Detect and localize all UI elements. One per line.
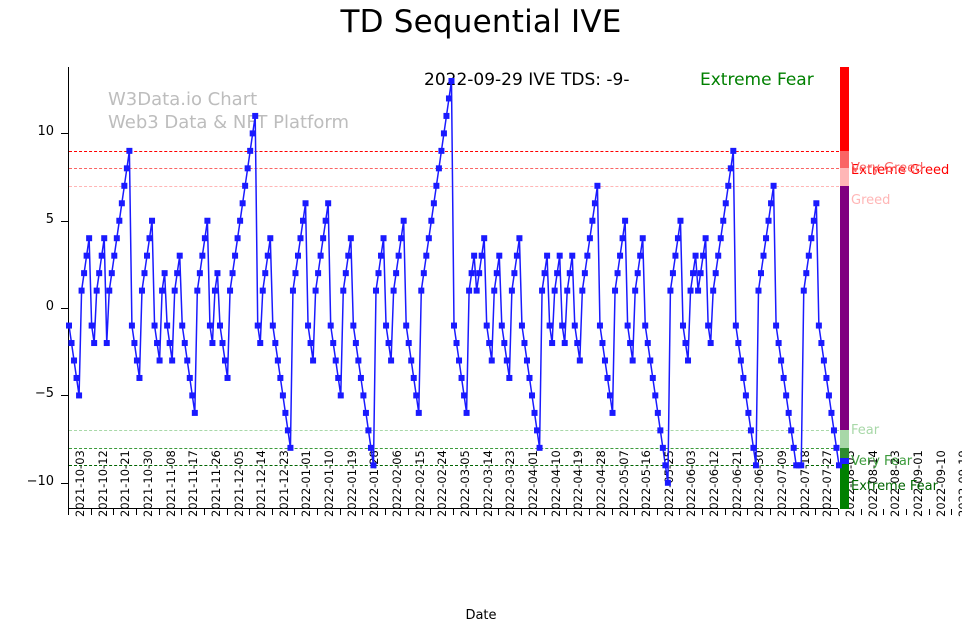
data-point-marker (421, 270, 427, 276)
data-point-marker (204, 218, 210, 224)
data-point-marker (605, 375, 611, 381)
x-tick-mark (181, 509, 182, 515)
data-point-marker (509, 288, 515, 294)
data-point-marker (602, 358, 608, 364)
data-point-marker (189, 392, 195, 398)
zone-label-very-greed: Very Greed (851, 161, 923, 176)
x-tick-mark (294, 509, 295, 515)
data-point-marker (184, 358, 190, 364)
data-point-marker (474, 288, 480, 294)
data-point-marker (177, 253, 183, 259)
data-point-marker (370, 462, 376, 468)
data-point-marker (230, 270, 236, 276)
data-point-marker (323, 218, 329, 224)
x-tick-mark (204, 509, 205, 515)
data-point-marker (315, 270, 321, 276)
data-point-marker (695, 288, 701, 294)
colorbar-segment (840, 448, 849, 458)
tds-series-line (69, 67, 839, 509)
data-point-marker (587, 235, 593, 241)
data-point-marker (610, 410, 616, 416)
data-point-marker (265, 253, 271, 259)
data-point-marker (514, 253, 520, 259)
data-point-marker (640, 235, 646, 241)
x-tick-mark (521, 509, 522, 515)
data-point-marker (96, 270, 102, 276)
data-point-marker (365, 427, 371, 433)
data-point-marker (330, 340, 336, 346)
x-tick-mark (566, 509, 567, 515)
data-point-marker (154, 340, 160, 346)
data-point-marker (343, 270, 349, 276)
data-point-marker (557, 253, 563, 259)
data-point-marker (227, 288, 233, 294)
x-tick-mark (362, 509, 363, 515)
data-point-marker (821, 358, 827, 364)
data-point-marker (479, 253, 485, 259)
data-point-marker (607, 392, 613, 398)
data-point-marker (247, 148, 253, 154)
x-tick-mark (249, 509, 250, 515)
data-point-marker (481, 235, 487, 241)
data-point-marker (748, 427, 754, 433)
data-point-marker (104, 340, 110, 346)
data-point-marker (683, 340, 689, 346)
data-point-marker (693, 253, 699, 259)
data-point-marker (368, 445, 374, 451)
data-point-marker (280, 392, 286, 398)
data-point-marker (615, 270, 621, 276)
chart-title: TD Sequential IVE (0, 4, 962, 40)
data-point-marker (778, 358, 784, 364)
data-point-marker (333, 358, 339, 364)
data-point-marker (788, 427, 794, 433)
data-point-marker (519, 323, 525, 329)
data-point-marker (660, 445, 666, 451)
series-polyline (69, 81, 839, 483)
data-point-marker (471, 253, 477, 259)
x-tick-mark (770, 509, 771, 515)
colorbar-segment (840, 186, 849, 431)
data-point-marker (338, 392, 344, 398)
data-point-marker (766, 218, 772, 224)
data-point-marker (413, 392, 419, 398)
x-tick-mark (476, 509, 477, 515)
data-point-marker (811, 218, 817, 224)
data-point-marker (579, 288, 585, 294)
y-tick-label: 5 (20, 212, 54, 227)
colorbar-segment (840, 67, 849, 151)
zone-label-fear: Fear (851, 423, 879, 438)
data-point-marker (783, 392, 789, 398)
data-point-marker (791, 445, 797, 451)
data-point-marker (720, 218, 726, 224)
data-point-marker (428, 218, 434, 224)
data-point-marker (360, 392, 366, 398)
data-point-marker (657, 427, 663, 433)
data-point-marker (141, 270, 147, 276)
data-point-marker (174, 270, 180, 276)
y-tick-mark (61, 308, 68, 309)
data-point-marker (167, 340, 173, 346)
data-point-marker (433, 183, 439, 189)
data-point-marker (798, 462, 804, 468)
data-point-marker (207, 323, 213, 329)
data-point-marker (217, 323, 223, 329)
data-point-marker (235, 235, 241, 241)
data-point-marker (672, 253, 678, 259)
data-point-marker (109, 270, 115, 276)
data-point-marker (363, 410, 369, 416)
data-point-marker (313, 288, 319, 294)
data-point-marker (431, 200, 437, 206)
data-point-marker (126, 148, 132, 154)
data-point-marker (136, 375, 142, 381)
data-point-marker (345, 253, 351, 259)
data-point-marker (303, 200, 309, 206)
data-point-marker (476, 270, 482, 276)
data-point-marker (131, 340, 137, 346)
data-point-marker (685, 358, 691, 364)
data-point-marker (584, 253, 590, 259)
plot-area (68, 67, 838, 509)
x-tick-mark (317, 509, 318, 515)
data-point-marker (826, 392, 832, 398)
x-tick-mark (408, 509, 409, 515)
data-point-marker (426, 235, 432, 241)
data-point-marker (713, 270, 719, 276)
data-point-marker (768, 200, 774, 206)
data-point-marker (287, 445, 293, 451)
x-tick-mark (498, 509, 499, 515)
data-point-marker (94, 288, 100, 294)
data-point-marker (446, 95, 452, 101)
data-point-marker (464, 410, 470, 416)
data-point-marker (723, 200, 729, 206)
zone-label-greed: Greed (851, 193, 890, 208)
data-point-marker (454, 340, 460, 346)
data-point-marker (401, 218, 407, 224)
x-tick-mark (861, 509, 862, 515)
data-point-marker (355, 358, 361, 364)
data-point-marker (813, 200, 819, 206)
data-point-marker (448, 78, 454, 84)
data-point-marker (637, 253, 643, 259)
data-point-marker (582, 270, 588, 276)
data-point-marker (554, 270, 560, 276)
data-point-marker (690, 270, 696, 276)
data-point-marker (438, 148, 444, 154)
zone-label-very-fear: Very Fear (851, 454, 912, 469)
data-point-marker (305, 323, 311, 329)
data-point-marker (833, 445, 839, 451)
data-point-marker (620, 235, 626, 241)
data-point-marker (308, 340, 314, 346)
data-point-marker (169, 358, 175, 364)
data-point-marker (547, 323, 553, 329)
x-tick-mark (906, 509, 907, 515)
data-point-marker (806, 253, 812, 259)
data-point-marker (501, 340, 507, 346)
data-point-marker (622, 218, 628, 224)
data-point-marker (295, 253, 301, 259)
x-tick-mark (793, 509, 794, 515)
data-point-marker (197, 270, 203, 276)
data-point-marker (652, 392, 658, 398)
data-point-marker (589, 218, 595, 224)
data-point-marker (255, 323, 261, 329)
data-point-marker (353, 340, 359, 346)
data-point-marker (147, 235, 153, 241)
data-point-marker (662, 462, 668, 468)
data-point-marker (250, 130, 256, 136)
data-point-marker (808, 235, 814, 241)
colorbar-segment (840, 151, 849, 168)
data-point-marker (272, 340, 278, 346)
data-point-marker (348, 235, 354, 241)
data-point-marker (378, 253, 384, 259)
data-point-marker (114, 235, 120, 241)
data-point-marker (549, 340, 555, 346)
data-point-marker (237, 218, 243, 224)
data-point-marker (116, 218, 122, 224)
data-point-marker (391, 288, 397, 294)
data-point-marker (373, 288, 379, 294)
data-point-marker (418, 288, 424, 294)
data-point-marker (212, 288, 218, 294)
x-tick-label: 2022-09-19 (956, 450, 962, 517)
data-point-marker (91, 340, 97, 346)
data-point-marker (182, 340, 188, 346)
data-point-marker (670, 270, 676, 276)
data-point-marker (667, 288, 673, 294)
data-point-marker (451, 323, 457, 329)
data-point-marker (801, 288, 807, 294)
x-tick-mark (68, 509, 69, 515)
data-point-marker (242, 183, 248, 189)
data-point-marker (544, 253, 550, 259)
data-point-marker (735, 340, 741, 346)
x-axis-label: Date (0, 608, 962, 623)
data-point-marker (119, 200, 125, 206)
data-point-marker (823, 375, 829, 381)
data-point-marker (592, 200, 598, 206)
data-point-marker (376, 270, 382, 276)
x-tick-mark (612, 509, 613, 515)
data-point-marker (574, 340, 580, 346)
x-tick-mark (657, 509, 658, 515)
data-point-marker (252, 113, 258, 119)
data-point-marker (559, 323, 565, 329)
data-point-marker (486, 340, 492, 346)
data-point-marker (491, 288, 497, 294)
data-point-marker (164, 323, 170, 329)
x-tick-mark (136, 509, 137, 515)
data-point-marker (516, 235, 522, 241)
data-point-marker (152, 323, 158, 329)
data-point-marker (443, 113, 449, 119)
data-point-marker (99, 253, 105, 259)
data-point-marker (715, 253, 721, 259)
data-point-marker (101, 235, 107, 241)
colorbar-segment (840, 168, 849, 185)
data-point-marker (675, 235, 681, 241)
data-point-marker (597, 323, 603, 329)
data-point-marker (71, 358, 77, 364)
data-point-marker (625, 323, 631, 329)
colorbar-segment (840, 430, 849, 447)
data-point-marker (179, 323, 185, 329)
data-point-marker (599, 340, 605, 346)
x-tick-mark (725, 509, 726, 515)
data-point-marker (496, 253, 502, 259)
data-point-marker (214, 270, 220, 276)
y-tick-mark (61, 483, 68, 484)
data-point-marker (758, 270, 764, 276)
data-point-marker (562, 340, 568, 346)
data-point-marker (469, 270, 475, 276)
data-point-marker (350, 323, 356, 329)
data-point-marker (187, 375, 193, 381)
data-point-marker (86, 235, 92, 241)
data-point-marker (292, 270, 298, 276)
data-point-marker (393, 270, 399, 276)
data-point-marker (172, 288, 178, 294)
data-point-marker (260, 288, 266, 294)
data-point-marker (665, 480, 671, 486)
data-point-marker (79, 288, 85, 294)
y-tick-mark (61, 133, 68, 134)
data-point-marker (144, 253, 150, 259)
data-point-marker (398, 235, 404, 241)
data-point-marker (267, 235, 273, 241)
data-point-marker (632, 288, 638, 294)
data-point-marker (572, 323, 578, 329)
data-point-marker (386, 340, 392, 346)
data-point-marker (406, 340, 412, 346)
data-point-marker (828, 410, 834, 416)
data-point-marker (441, 130, 447, 136)
data-point-marker (310, 358, 316, 364)
data-point-marker (396, 253, 402, 259)
data-point-marker (728, 165, 734, 171)
data-point-marker (567, 270, 573, 276)
data-point-marker (159, 288, 165, 294)
data-point-marker (755, 288, 761, 294)
data-point-marker (139, 288, 145, 294)
data-point-marker (650, 375, 656, 381)
data-point-marker (285, 427, 291, 433)
data-point-marker (121, 183, 127, 189)
data-point-marker (750, 445, 756, 451)
data-point-marker (708, 340, 714, 346)
data-point-marker (66, 323, 72, 329)
data-point-marker (282, 410, 288, 416)
data-point-marker (831, 427, 837, 433)
data-point-marker (192, 410, 198, 416)
data-point-marker (645, 340, 651, 346)
data-point-marker (745, 410, 751, 416)
x-tick-mark (679, 509, 680, 515)
data-point-marker (232, 253, 238, 259)
y-tick-mark (61, 395, 68, 396)
x-tick-mark (272, 509, 273, 515)
data-point-marker (642, 323, 648, 329)
data-point-marker (129, 323, 135, 329)
data-point-marker (328, 323, 334, 329)
x-tick-mark (838, 509, 839, 515)
data-point-marker (552, 288, 558, 294)
data-point-marker (262, 270, 268, 276)
data-point-marker (725, 183, 731, 189)
data-point-marker (69, 340, 75, 346)
data-point-marker (461, 392, 467, 398)
data-point-marker (300, 218, 306, 224)
data-point-marker (786, 410, 792, 416)
x-tick-mark (634, 509, 635, 515)
x-tick-mark (430, 509, 431, 515)
data-point-marker (111, 253, 117, 259)
x-tick-mark (929, 509, 930, 515)
data-point-marker (225, 375, 231, 381)
data-point-marker (423, 253, 429, 259)
data-point-marker (539, 288, 545, 294)
data-point-marker (325, 200, 331, 206)
data-point-marker (194, 288, 200, 294)
chart-root: TD Sequential IVE 2022-09-29 IVE TDS: -9… (0, 0, 962, 633)
data-point-marker (635, 270, 641, 276)
x-tick-mark (702, 509, 703, 515)
data-point-marker (647, 358, 653, 364)
x-tick-mark (159, 509, 160, 515)
data-point-marker (612, 288, 618, 294)
data-point-marker (688, 288, 694, 294)
zone-label-extreme-fear: Extreme Fear (851, 479, 938, 494)
x-tick-mark (589, 509, 590, 515)
data-point-marker (743, 392, 749, 398)
data-point-marker (703, 235, 709, 241)
data-point-marker (730, 148, 736, 154)
data-point-marker (240, 200, 246, 206)
data-point-marker (655, 410, 661, 416)
data-point-marker (733, 323, 739, 329)
x-tick-mark (227, 509, 228, 515)
data-point-marker (526, 375, 532, 381)
data-point-marker (710, 288, 716, 294)
data-point-marker (222, 358, 228, 364)
data-point-marker (84, 253, 90, 259)
data-point-marker (403, 323, 409, 329)
data-point-marker (569, 253, 575, 259)
data-point-marker (388, 358, 394, 364)
data-point-marker (220, 340, 226, 346)
data-point-marker (124, 165, 130, 171)
data-point-marker (532, 410, 538, 416)
data-point-marker (499, 323, 505, 329)
data-point-marker (436, 165, 442, 171)
y-tick-label: 0 (20, 299, 54, 314)
data-point-marker (484, 323, 490, 329)
data-point-marker (542, 270, 548, 276)
data-point-marker (630, 358, 636, 364)
data-point-marker (836, 462, 842, 468)
data-point-marker (74, 375, 80, 381)
data-point-marker (781, 375, 787, 381)
data-point-marker (76, 392, 82, 398)
x-tick-mark (91, 509, 92, 515)
data-point-marker (738, 358, 744, 364)
data-point-marker (275, 358, 281, 364)
